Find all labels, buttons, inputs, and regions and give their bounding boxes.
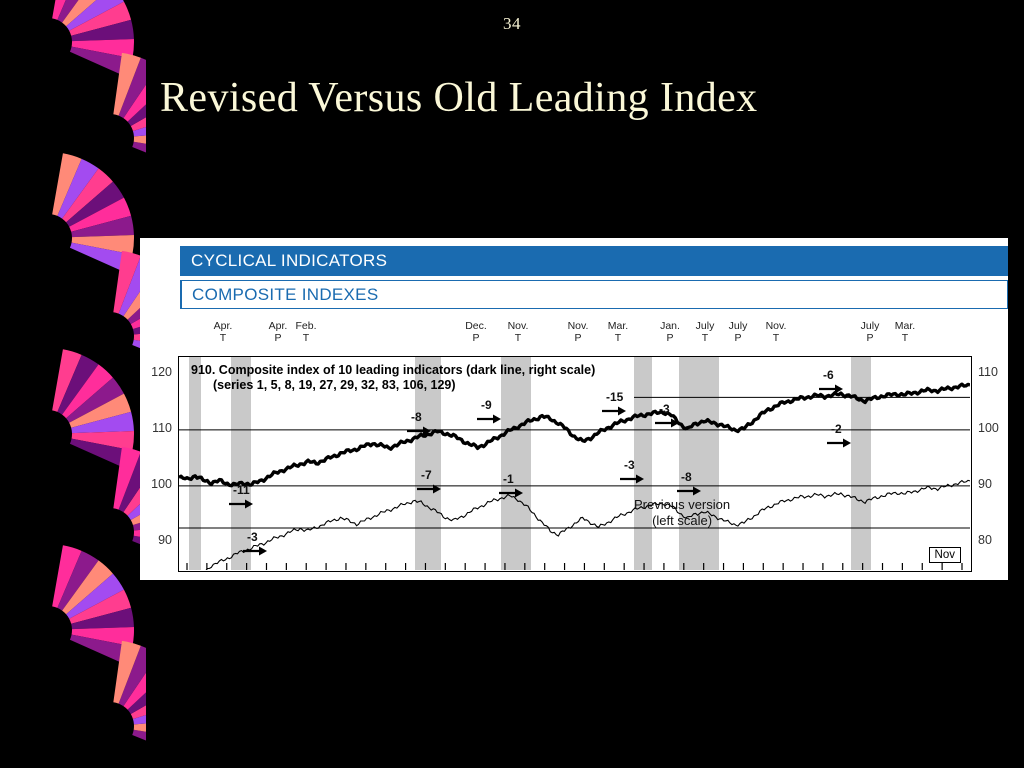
lead-annotation-label: -3: [659, 402, 670, 416]
chart-subtitle: (series 1, 5, 8, 19, 27, 29, 32, 83, 106…: [191, 378, 595, 393]
turning-point-month: Jan.: [660, 320, 680, 332]
turning-point-kind: P: [861, 332, 880, 344]
turning-point-marker: Nov.P: [568, 320, 589, 344]
turning-point-kind: T: [214, 332, 233, 344]
page-title: Revised Versus Old Leading Index: [160, 74, 960, 122]
arrow-icon: [618, 407, 626, 416]
turning-point-month: July: [861, 320, 880, 332]
turning-point-marker: Mar.T: [895, 320, 915, 344]
slide-canvas: 34 Revised Versus Old Leading Index CYCL…: [0, 0, 1024, 768]
turning-point-marker: JulyP: [861, 320, 880, 344]
turning-point-kind: T: [895, 332, 915, 344]
right-axis-tick: 90: [978, 477, 992, 491]
turning-point-month: Nov.: [568, 320, 589, 332]
right-axis: 1101009080: [972, 356, 1008, 572]
graph-area: 12011010090 1101009080 -11-3-8-7-9-1-15-…: [140, 356, 1008, 572]
turning-point-month: Mar.: [608, 320, 628, 332]
chart-title: 910. Composite index of 10 leading indic…: [191, 363, 595, 377]
cyclical-indicators-header: CYCLICAL INDICATORS: [180, 246, 1008, 276]
turning-point-marker: Nov.T: [508, 320, 529, 344]
lead-annotation: -3: [655, 402, 679, 428]
arrow-icon: [259, 547, 267, 556]
right-axis-tick: 110: [978, 365, 998, 379]
turning-point-marker: Dec.P: [465, 320, 487, 344]
turning-point-marker: Jan.P: [660, 320, 680, 344]
spiral-fan-ribbon-decoration: [18, 0, 146, 768]
lead-annotation-label: -9: [481, 398, 492, 412]
lead-annotation: -3: [243, 530, 267, 556]
turning-point-marker: Mar.T: [608, 320, 628, 344]
turning-point-kind: T: [508, 332, 529, 344]
turning-point-month: Dec.: [465, 320, 487, 332]
turning-point-kind: P: [568, 332, 589, 344]
lead-annotation-label: -7: [421, 468, 432, 482]
previous-version-line2: (left scale): [652, 513, 712, 528]
lead-annotation: -15: [602, 390, 626, 416]
turning-point-month: Apr.: [269, 320, 288, 332]
left-axis: 12011010090: [140, 356, 176, 572]
plot-frame: -11-3-8-7-9-1-15-3-3-8-6-2 910. Composit…: [178, 356, 972, 572]
left-axis-tick: 110: [152, 421, 172, 435]
turning-point-kind: T: [295, 332, 316, 344]
composite-indexes-header: COMPOSITE INDEXES: [180, 280, 1008, 309]
turning-point-month: Nov.: [766, 320, 787, 332]
turning-point-marker: JulyT: [696, 320, 715, 344]
turning-point-marker: Nov.T: [766, 320, 787, 344]
turning-point-marker: Feb.T: [295, 320, 316, 344]
left-axis-tick: 120: [151, 365, 172, 379]
turning-point-kind: P: [729, 332, 748, 344]
lead-annotation-label: -1: [503, 472, 514, 486]
recession-band: [851, 357, 871, 570]
left-axis-tick: 100: [151, 477, 172, 491]
chart-title-block: 910. Composite index of 10 leading indic…: [191, 363, 595, 393]
turning-point-kind: T: [608, 332, 628, 344]
turning-point-kind: T: [696, 332, 715, 344]
lead-annotation-label: -3: [247, 530, 258, 544]
turning-point-month: July: [729, 320, 748, 332]
turning-point-kind: P: [269, 332, 288, 344]
lead-annotation-label: -8: [411, 410, 422, 424]
turning-point-month: Mar.: [895, 320, 915, 332]
right-axis-tick: 80: [978, 533, 992, 547]
chart-panel: CYCLICAL INDICATORS COMPOSITE INDEXES Ap…: [140, 238, 1008, 580]
lead-annotation-label: -8: [681, 470, 692, 484]
arrow-icon: [843, 439, 851, 448]
left-axis-tick: 90: [158, 533, 172, 547]
recession-band: [634, 357, 652, 570]
recession-band: [679, 357, 719, 570]
previous-version-line1: Previous version: [634, 497, 730, 512]
turning-point-marker: JulyP: [729, 320, 748, 344]
turning-point-month: Feb.: [295, 320, 316, 332]
arrow-icon: [493, 415, 501, 424]
turning-point-month: July: [696, 320, 715, 332]
page-number: 34: [0, 14, 1024, 34]
lead-annotation: -9: [477, 398, 501, 424]
lead-annotation: -6: [819, 368, 843, 394]
lead-annotation: -2: [827, 422, 851, 448]
turning-point-kind: P: [465, 332, 487, 344]
turning-point-kind: P: [660, 332, 680, 344]
turning-point-marker: Apr.T: [214, 320, 233, 344]
lead-annotation: -11: [229, 483, 253, 509]
turning-point-marker: Apr.P: [269, 320, 288, 344]
turning-point-marker-row: Apr.TApr.PFeb.TDec.PNov.TNov.PMar.TJan.P…: [140, 320, 1008, 354]
lead-annotation-label: -15: [606, 390, 624, 404]
turning-point-kind: T: [766, 332, 787, 344]
lead-annotation-label: -2: [831, 422, 842, 436]
lead-annotation-label: -11: [233, 483, 250, 497]
last-point-badge: Nov: [929, 547, 961, 563]
lead-annotation-label: -6: [823, 368, 834, 382]
right-axis-tick: 100: [978, 421, 999, 435]
previous-version-note: Previous version (left scale): [634, 497, 730, 529]
turning-point-month: Nov.: [508, 320, 529, 332]
lead-annotation-label: -3: [624, 458, 635, 472]
turning-point-month: Apr.: [214, 320, 233, 332]
